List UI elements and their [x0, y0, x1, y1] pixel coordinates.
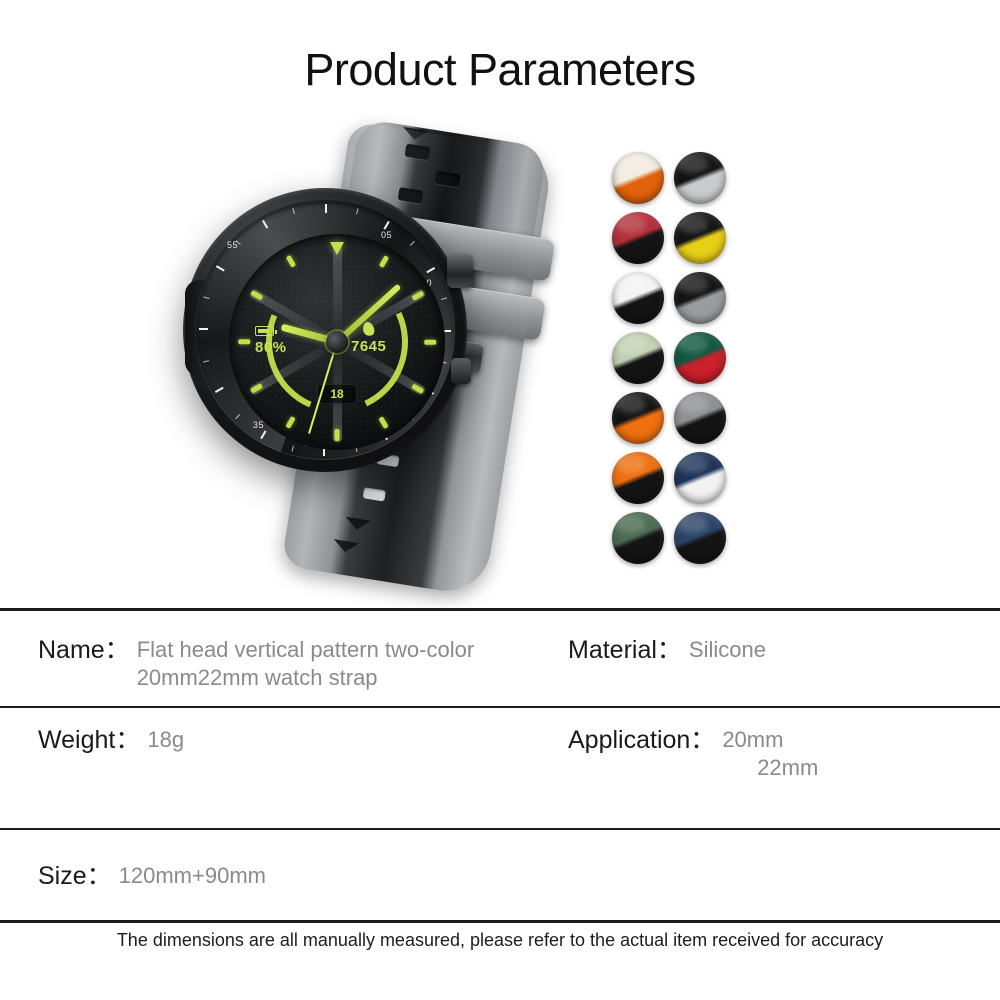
- swatch-sage-black[interactable]: [612, 332, 664, 384]
- dial-marker-12: [330, 242, 344, 255]
- table-row: Size： 120mm+90mm: [0, 830, 1000, 920]
- table-cell-empty: [560, 830, 1000, 920]
- color-swatch-grid: [612, 152, 726, 564]
- swatch-black-gray[interactable]: [674, 272, 726, 324]
- table-cell-size: Size： 120mm+90mm: [0, 830, 560, 920]
- swatch-navy-white[interactable]: [674, 452, 726, 504]
- battery-value: 80%: [255, 340, 287, 355]
- label-name: Name：: [38, 636, 130, 665]
- table-row: Weight： 18g Application： 20mm 22mm: [0, 708, 1000, 828]
- value-size: 120mm+90mm: [119, 862, 266, 890]
- value-material: Silicone: [689, 636, 766, 664]
- watch-case: 05 10 15 20 25 30 35 55: [183, 188, 467, 472]
- swatch-gloss: [616, 455, 646, 473]
- dial-marker: [424, 340, 436, 345]
- watch-crown[interactable]: [447, 254, 473, 288]
- swatch-darkgreen-black[interactable]: [612, 512, 664, 564]
- swatch-gloss: [616, 515, 646, 533]
- footnote-text: The dimensions are all manually measured…: [0, 930, 1000, 951]
- value-application-line1: 20mm: [722, 727, 783, 752]
- label-size: Size：: [38, 862, 112, 891]
- swatch-gloss: [678, 275, 708, 293]
- swatch-orange-black[interactable]: [612, 452, 664, 504]
- bezel-number-55: 55: [227, 240, 238, 250]
- swatch-gloss: [678, 155, 708, 173]
- battery-icon: [255, 326, 274, 336]
- product-parameters-page: Product Parameters: [0, 0, 1000, 1000]
- footprint-icon: [361, 321, 376, 338]
- table-row: Name： Flat head vertical pattern two-col…: [0, 611, 1000, 706]
- dial-marker: [335, 429, 340, 441]
- dial-marker: [238, 340, 250, 345]
- value-application-line2: 22mm: [722, 754, 818, 782]
- table-cell-material: Material： Silicone: [560, 611, 1000, 706]
- product-hero-area: 05 10 15 20 25 30 35 55: [0, 130, 1000, 590]
- swatch-gloss: [678, 455, 708, 473]
- swatch-gloss: [678, 335, 708, 353]
- steps-value: 7645: [351, 339, 386, 354]
- bezel-number-05: 05: [381, 230, 392, 240]
- bezel-number-35: 35: [253, 420, 264, 430]
- product-watch-image: 05 10 15 20 25 30 35 55: [165, 140, 605, 580]
- swatch-white-black[interactable]: [612, 272, 664, 324]
- value-name: Flat head vertical pattern two-color 20m…: [137, 636, 537, 691]
- swatch-gloss: [616, 395, 646, 413]
- swatch-navyblue-black[interactable]: [674, 512, 726, 564]
- bezel-tick: [199, 328, 208, 330]
- swatch-gloss: [678, 395, 708, 413]
- watch-dial: 80% 7645 18: [229, 234, 445, 450]
- spec-table: Name： Flat head vertical pattern two-col…: [0, 608, 1000, 923]
- watch-bezel: 05 10 15 20 25 30 35 55: [195, 200, 455, 460]
- table-cell-application: Application： 20mm 22mm: [560, 708, 1000, 828]
- swatch-gloss: [678, 215, 708, 233]
- swatch-orange-cream[interactable]: [612, 152, 664, 204]
- swatch-red-black[interactable]: [612, 212, 664, 264]
- table-cell-weight: Weight： 18g: [0, 708, 560, 828]
- swatch-gloss: [616, 215, 646, 233]
- table-divider: [0, 920, 1000, 923]
- table-cell-name: Name： Flat head vertical pattern two-col…: [0, 611, 560, 706]
- page-title: Product Parameters: [0, 44, 1000, 96]
- label-application: Application：: [568, 726, 715, 755]
- watch-pusher-button[interactable]: [451, 358, 471, 384]
- label-weight: Weight：: [38, 726, 140, 755]
- swatch-gloss: [616, 155, 646, 173]
- swatch-gloss: [616, 275, 646, 293]
- swatch-black-yellow[interactable]: [674, 212, 726, 264]
- bezel-tick: [325, 204, 327, 213]
- swatch-gray-black[interactable]: [674, 392, 726, 444]
- swatch-gloss: [616, 335, 646, 353]
- swatch-black-silver[interactable]: [674, 152, 726, 204]
- swatch-black-orange[interactable]: [612, 392, 664, 444]
- swatch-green-red[interactable]: [674, 332, 726, 384]
- swatch-gloss: [678, 515, 708, 533]
- label-material: Material：: [568, 636, 682, 665]
- value-weight: 18g: [147, 726, 184, 754]
- hands-hub: [326, 331, 348, 353]
- value-application: 20mm 22mm: [722, 726, 818, 781]
